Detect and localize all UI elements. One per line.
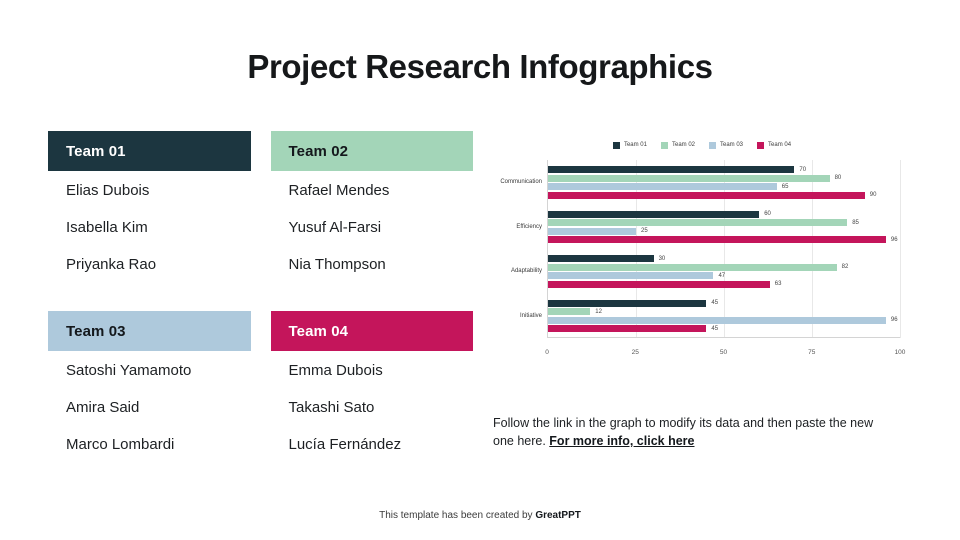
team-title-01: Team 01 (66, 143, 126, 160)
chart-bar[interactable] (548, 228, 636, 235)
legend-label: Team 02 (672, 142, 695, 148)
list-item: Marco Lombardi (66, 437, 251, 452)
teams-section: Team 01 Elias Dubois Isabella Kim Priyan… (48, 131, 473, 452)
team-card-04[interactable]: Team 04 Emma Dubois Takashi Sato Lucía F… (271, 311, 474, 452)
chart-bar[interactable] (548, 325, 706, 332)
chart-category-label: Communication (500, 179, 542, 185)
chart-bar-value: 85 (852, 220, 859, 226)
chart-x-tick: 100 (895, 349, 906, 356)
list-item: Nia Thompson (289, 257, 474, 272)
team-header-02: Team 02 (271, 131, 474, 171)
chart-bar-row: 30 (548, 255, 900, 262)
chart-bar[interactable] (548, 211, 759, 218)
chart-category-label: Adaptability (511, 268, 542, 274)
team-members-03: Satoshi Yamamoto Amira Said Marco Lombar… (48, 351, 251, 452)
team-row-top: Team 01 Elias Dubois Isabella Kim Priyan… (48, 131, 473, 272)
chart-bar-value: 70 (799, 167, 806, 173)
chart-bar-value: 63 (775, 281, 782, 287)
chart-bar-row: 47 (548, 272, 900, 279)
chart-bar-value: 47 (718, 273, 725, 279)
chart-bar-value: 90 (870, 192, 877, 198)
chart-bar[interactable] (548, 300, 706, 307)
team-card-02[interactable]: Team 02 Rafael Mendes Yusuf Al-Farsi Nia… (271, 131, 474, 272)
list-item: Rafael Mendes (289, 183, 474, 198)
chart-gridline (900, 160, 901, 338)
list-item: Yusuf Al-Farsi (289, 220, 474, 235)
chart-bar-row: 96 (548, 317, 900, 324)
chart-bar[interactable] (548, 255, 654, 262)
team-card-01[interactable]: Team 01 Elias Dubois Isabella Kim Priyan… (48, 131, 251, 272)
slide-footer: This template has been created by GreatP… (0, 510, 960, 521)
chart-bar[interactable] (548, 264, 837, 271)
legend-swatch-icon (661, 142, 668, 149)
chart-bar-row: 85 (548, 219, 900, 226)
chart-bar-value: 60 (764, 211, 771, 217)
footer-text: This template has been created by (379, 510, 535, 521)
chart-bar[interactable] (548, 192, 865, 199)
legend-swatch-icon (757, 142, 764, 149)
slide-canvas: Project Research Infographics Team 01 El… (0, 0, 960, 540)
list-item: Takashi Sato (289, 400, 474, 415)
chart-bar-row: 63 (548, 281, 900, 288)
chart-bar-row: 80 (548, 175, 900, 182)
chart-bar-value: 65 (782, 184, 789, 190)
chart-bar[interactable] (548, 219, 847, 226)
page-title: Project Research Infographics (0, 48, 960, 86)
chart-bar-value: 45 (711, 326, 718, 332)
chart-bar-row: 70 (548, 166, 900, 173)
chart-x-tick: 25 (632, 349, 639, 356)
legend-item: Team 03 (709, 142, 743, 149)
chart-category-label: Efficiency (516, 224, 542, 230)
more-info-link[interactable]: For more info, click here (549, 434, 694, 448)
chart-bar-row: 90 (548, 192, 900, 199)
bar-chart[interactable]: Team 01Team 02Team 03Team 04 Communicati… (492, 138, 912, 383)
team-members-02: Rafael Mendes Yusuf Al-Farsi Nia Thompso… (271, 171, 474, 272)
chart-x-tick: 75 (808, 349, 815, 356)
chart-bar-value: 25 (641, 228, 648, 234)
team-title-02: Team 02 (289, 143, 349, 160)
chart-bar[interactable] (548, 272, 713, 279)
legend-swatch-icon (709, 142, 716, 149)
chart-category-group: Adaptability30824763 (548, 249, 900, 294)
chart-x-tick: 50 (720, 349, 727, 356)
chart-category-group: Communication70806590 (548, 160, 900, 205)
team-title-04: Team 04 (289, 323, 349, 340)
chart-bar[interactable] (548, 308, 590, 315)
chart-plot: Communication70806590Efficiency60852596A… (492, 160, 912, 360)
legend-item: Team 02 (661, 142, 695, 149)
chart-bar-row: 12 (548, 308, 900, 315)
chart-bar-value: 45 (711, 300, 718, 306)
chart-x-axis (547, 337, 900, 338)
chart-legend: Team 01Team 02Team 03Team 04 (492, 138, 912, 152)
chart-category-group: Initiative45129645 (548, 294, 900, 339)
chart-bar[interactable] (548, 183, 777, 190)
legend-item: Team 04 (757, 142, 791, 149)
chart-bar[interactable] (548, 236, 886, 243)
chart-bar[interactable] (548, 175, 830, 182)
team-members-04: Emma Dubois Takashi Sato Lucía Fernández (271, 351, 474, 452)
chart-x-tick: 0 (545, 349, 549, 356)
chart-bar-row: 60 (548, 211, 900, 218)
team-card-03[interactable]: Team 03 Satoshi Yamamoto Amira Said Marc… (48, 311, 251, 452)
list-item: Satoshi Yamamoto (66, 363, 251, 378)
chart-bar-value: 96 (891, 317, 898, 323)
legend-swatch-icon (613, 142, 620, 149)
team-members-01: Elias Dubois Isabella Kim Priyanka Rao (48, 171, 251, 272)
team-header-04: Team 04 (271, 311, 474, 351)
chart-category-label: Initiative (520, 313, 542, 319)
chart-bar-row: 82 (548, 264, 900, 271)
list-item: Isabella Kim (66, 220, 251, 235)
list-item: Elias Dubois (66, 183, 251, 198)
chart-bar-value: 96 (891, 237, 898, 243)
team-header-01: Team 01 (48, 131, 251, 171)
list-item: Lucía Fernández (289, 437, 474, 452)
chart-bar-row: 65 (548, 183, 900, 190)
chart-bar-row: 45 (548, 325, 900, 332)
chart-bar-value: 30 (659, 256, 666, 262)
legend-label: Team 01 (624, 142, 647, 148)
chart-bar-value: 12 (595, 309, 602, 315)
chart-bar[interactable] (548, 317, 886, 324)
team-header-03: Team 03 (48, 311, 251, 351)
team-row-bottom: Team 03 Satoshi Yamamoto Amira Said Marc… (48, 272, 473, 452)
chart-bar-row: 96 (548, 236, 900, 243)
chart-bar[interactable] (548, 281, 770, 288)
chart-bar[interactable] (548, 166, 794, 173)
footer-brand: GreatPPT (535, 510, 581, 521)
chart-bar-value: 82 (842, 264, 849, 270)
chart-caption: Follow the link in the graph to modify i… (493, 414, 893, 450)
legend-label: Team 04 (768, 142, 791, 148)
chart-category-group: Efficiency60852596 (548, 205, 900, 250)
team-title-03: Team 03 (66, 323, 126, 340)
list-item: Priyanka Rao (66, 257, 251, 272)
list-item: Emma Dubois (289, 363, 474, 378)
chart-bar-value: 80 (835, 175, 842, 181)
list-item: Amira Said (66, 400, 251, 415)
chart-bar-row: 45 (548, 300, 900, 307)
chart-plot-area: Communication70806590Efficiency60852596A… (547, 160, 900, 338)
legend-label: Team 03 (720, 142, 743, 148)
chart-bar-row: 25 (548, 228, 900, 235)
legend-item: Team 01 (613, 142, 647, 149)
